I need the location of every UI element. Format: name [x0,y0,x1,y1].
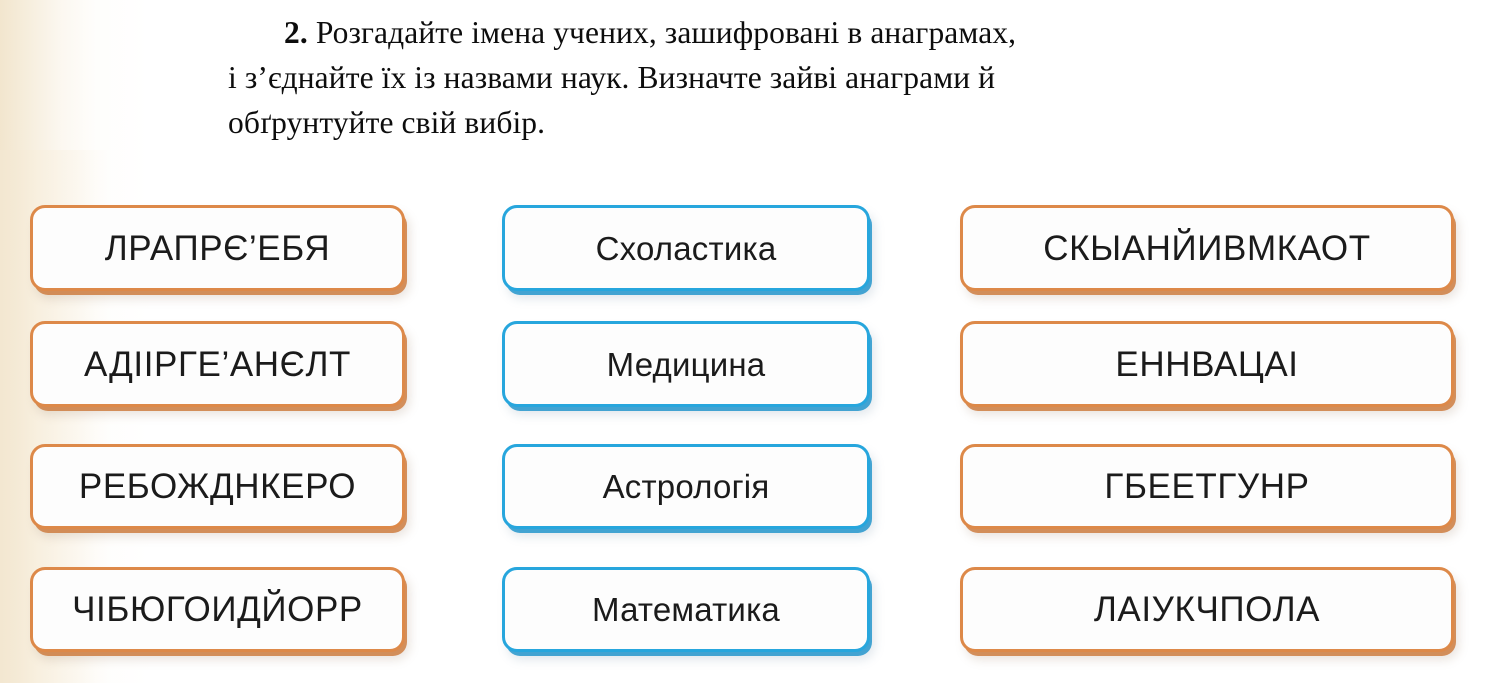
science-card-1[interactable]: Схоластика [502,205,870,291]
anagram-card-label: ЛАІУКЧПОЛА [1094,592,1320,627]
anagram-card-label: ЛРАПРЄ’ЕБЯ [105,231,331,266]
science-card-4[interactable]: Математика [502,567,870,652]
science-card-label: Математика [592,593,780,626]
anagram-card-right-1[interactable]: СКЫАНЙИВМКАОТ [960,205,1454,291]
anagram-card-right-2[interactable]: ЕННВАЦАІ [960,321,1454,407]
anagram-card-label: РЕБОЖДНКЕРО [79,469,356,504]
anagram-card-label: СКЫАНЙИВМКАОТ [1043,231,1370,266]
anagram-card-label: ГБЕЕТГУНР [1104,469,1309,504]
science-card-label: Схоластика [596,232,777,265]
science-card-label: Медицина [607,348,766,381]
anagram-card-left-3[interactable]: РЕБОЖДНКЕРО [30,444,405,529]
science-card-3[interactable]: Астрологія [502,444,870,529]
anagram-card-label: АДІІРГЕ’АНЄЛТ [84,347,351,382]
anagram-card-label: ЕННВАЦАІ [1115,347,1298,382]
anagram-card-right-3[interactable]: ГБЕЕТГУНР [960,444,1454,529]
anagram-card-left-4[interactable]: ЧІБЮГОИДЙОРР [30,567,405,652]
card-grid: ЛРАПРЄ’ЕБЯ АДІІРГЕ’АНЄЛТ РЕБОЖДНКЕРО ЧІБ… [0,0,1495,683]
anagram-card-left-1[interactable]: ЛРАПРЄ’ЕБЯ [30,205,405,291]
anagram-card-left-2[interactable]: АДІІРГЕ’АНЄЛТ [30,321,405,407]
worksheet-page: 2. Розгадайте імена учених, зашифровані … [0,0,1495,683]
science-card-2[interactable]: Медицина [502,321,870,407]
anagram-card-label: ЧІБЮГОИДЙОРР [72,592,363,627]
anagram-card-right-4[interactable]: ЛАІУКЧПОЛА [960,567,1454,652]
science-card-label: Астрологія [603,470,770,503]
